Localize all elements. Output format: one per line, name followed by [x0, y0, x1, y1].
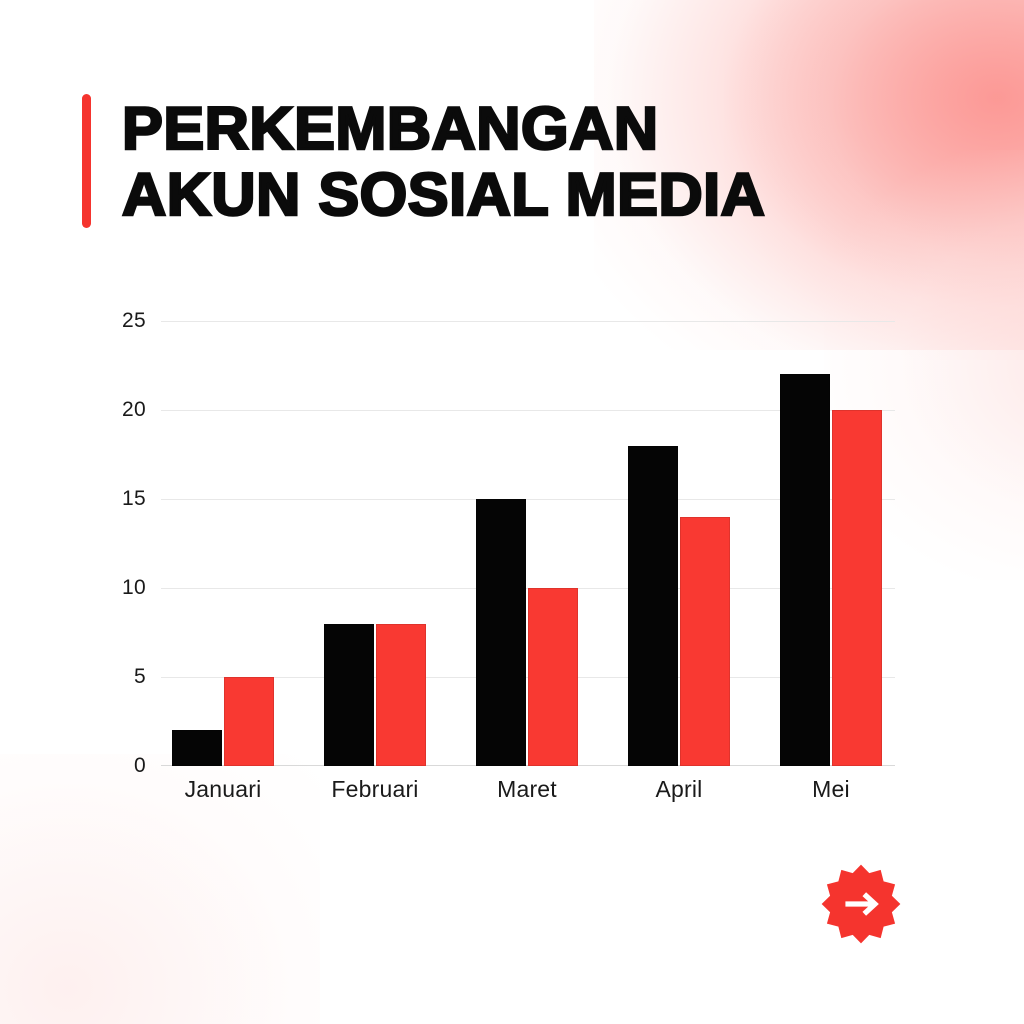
bar-red[interactable]	[680, 517, 730, 766]
y-tick-label: 25	[86, 309, 146, 333]
bar-black[interactable]	[172, 730, 222, 766]
bar-group	[628, 321, 730, 766]
bar-black[interactable]	[780, 374, 830, 766]
starburst-arrow-icon	[820, 863, 902, 945]
bar-red[interactable]	[376, 624, 426, 766]
bar-red[interactable]	[224, 677, 274, 766]
bar-group	[172, 321, 274, 766]
poster-canvas: PERKEMBANGAN AKUN SOSIAL MEDIA 051015202…	[0, 0, 1024, 1024]
bar-red[interactable]	[528, 588, 578, 766]
y-tick-label: 15	[86, 487, 146, 511]
next-badge-button[interactable]	[820, 863, 902, 945]
bar-group	[780, 321, 882, 766]
y-tick-label: 20	[86, 398, 146, 422]
bar-black[interactable]	[324, 624, 374, 766]
bar-group	[476, 321, 578, 766]
y-tick-label: 5	[86, 665, 146, 689]
bar-group	[324, 321, 426, 766]
bar-red[interactable]	[832, 410, 882, 766]
bar-black[interactable]	[628, 446, 678, 766]
bar-groups	[161, 321, 895, 766]
chart-plot-area: 0510152025 JanuariFebruariMaretAprilMei	[161, 321, 895, 766]
y-tick-label: 0	[86, 754, 146, 778]
x-tick-label: Mei	[731, 776, 931, 803]
y-tick-label: 10	[86, 576, 146, 600]
bar-black[interactable]	[476, 499, 526, 766]
